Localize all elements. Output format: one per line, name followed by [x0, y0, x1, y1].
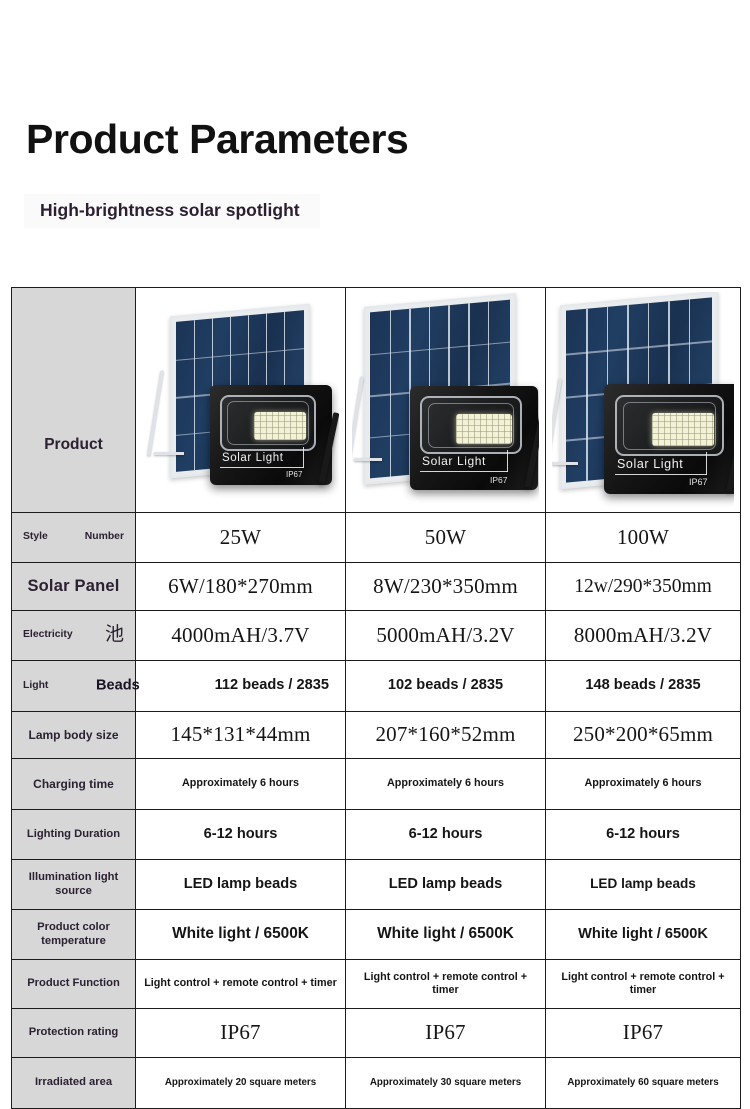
table-row-battery: Electricity 池 4000mAH/3.7V 5000mAH/3.2V …	[12, 611, 741, 661]
panel-stand-foot-icon	[154, 452, 184, 455]
cell-lamp-body-size-100w: 250*200*65mm	[546, 712, 741, 759]
cell-illumination-source-25w: LED lamp beads	[136, 860, 346, 910]
cell-charging-time-25w: Approximately 6 hours	[136, 759, 346, 810]
panel-stand-foot-icon	[354, 458, 382, 461]
row-label-solar-panel: Solar Panel	[12, 563, 136, 611]
row-label-product-text: Product	[16, 346, 131, 454]
cell-light-beads-100w: 148 beads / 2835	[546, 661, 741, 712]
cell-lighting-duration-100w: 6-12 hours	[546, 810, 741, 860]
page-subtitle: High-brightness solar spotlight	[40, 200, 300, 221]
product-image-cell-100w: Solar Light IP67	[546, 288, 741, 513]
table-row-product-function: Product Function Light control + remote …	[12, 960, 741, 1009]
cell-style-number-25w: 25W	[136, 513, 346, 563]
product-image-cell-25w: Solar Light IP67	[136, 288, 346, 513]
cell-light-beads-25w: 112 beads / 2835	[136, 661, 346, 712]
cell-protection-rating-50w: IP67	[346, 1009, 546, 1058]
row-label-protection-rating: Protection rating	[12, 1009, 136, 1058]
row-label-charging-time: Charging time	[12, 759, 136, 810]
floodlight-brand-text: Solar Light	[617, 457, 683, 472]
led-array-icon	[456, 414, 512, 444]
row-label-style-number: Style Number	[12, 513, 136, 563]
cell-lighting-duration-50w: 6-12 hours	[346, 810, 546, 860]
solar-light-illustration-small: Solar Light IP67	[142, 292, 339, 508]
led-array-icon	[652, 413, 714, 446]
cell-product-function-50w: Light control + remote control + timer	[346, 960, 546, 1009]
row-label-beads-text: Beads	[96, 677, 140, 694]
floodlight-icon: Solar Light IP67	[210, 385, 332, 485]
row-label-light-beads: Light Beads	[12, 661, 136, 712]
cell-solar-panel-100w: 12w/290*350mm	[546, 563, 741, 611]
cell-illumination-source-100w: LED lamp beads	[546, 860, 741, 910]
floodlight-ip-rating-text: IP67	[286, 470, 302, 480]
row-label-electricity-text: Electricity	[23, 629, 73, 641]
cell-irradiated-area-50w: Approximately 30 square meters	[346, 1058, 546, 1109]
table-row-illumination-source: Illumination light source LED lamp beads…	[12, 860, 741, 910]
cell-light-beads-50w: 102 beads / 2835	[346, 661, 546, 712]
cell-illumination-source-50w: LED lamp beads	[346, 860, 546, 910]
row-label-light-text: Light	[23, 680, 48, 692]
panel-stand-foot-icon	[552, 462, 578, 465]
row-label-lighting-duration: Lighting Duration	[12, 810, 136, 860]
cell-protection-rating-25w: IP67	[136, 1009, 346, 1058]
table-row-lamp-body-size: Lamp body size 145*131*44mm 207*160*52mm…	[12, 712, 741, 759]
cell-color-temperature-100w: White light / 6500K	[546, 910, 741, 960]
cell-battery-100w: 8000mAH/3.2V	[546, 611, 741, 661]
cell-battery-50w: 5000mAH/3.2V	[346, 611, 546, 661]
row-label-product: Product	[12, 288, 136, 513]
row-label-battery-cjk-text: 池	[105, 624, 124, 646]
table-row-protection-rating: Protection rating IP67 IP67 IP67	[12, 1009, 741, 1058]
panel-stand-icon	[147, 370, 163, 455]
cell-solar-panel-50w: 8W/230*350mm	[346, 563, 546, 611]
cell-style-number-50w: 50W	[346, 513, 546, 563]
row-label-illumination-source: Illumination light source	[12, 860, 136, 910]
cell-irradiated-area-100w: Approximately 60 square meters	[546, 1058, 741, 1109]
row-label-lamp-body-size: Lamp body size	[12, 712, 136, 759]
led-array-icon	[254, 412, 306, 440]
solar-light-illustration-large: Solar Light IP67	[552, 292, 734, 508]
cell-lamp-body-size-25w: 145*131*44mm	[136, 712, 346, 759]
cell-product-function-100w: Light control + remote control + timer	[546, 960, 741, 1009]
floodlight-icon: Solar Light IP67	[604, 384, 734, 494]
cell-charging-time-50w: Approximately 6 hours	[346, 759, 546, 810]
row-label-number-text: Number	[85, 531, 124, 543]
table-row-product: Product	[12, 288, 741, 513]
cell-charging-time-100w: Approximately 6 hours	[546, 759, 741, 810]
cell-color-temperature-50w: White light / 6500K	[346, 910, 546, 960]
table-row-light-beads: Light Beads 112 beads / 2835 102 beads /…	[12, 661, 741, 712]
floodlight-brand-text: Solar Light	[222, 451, 284, 465]
row-label-color-temperature: Product color temperature	[12, 910, 136, 960]
cell-lamp-body-size-50w: 207*160*52mm	[346, 712, 546, 759]
floodlight-ip-rating-text: IP67	[490, 475, 508, 485]
table-row-irradiated-area: Irradiated area Approximately 20 square …	[12, 1058, 741, 1109]
page-title: Product Parameters	[26, 116, 408, 163]
panel-stand-icon	[352, 376, 364, 461]
floodlight-icon: Solar Light IP67	[410, 386, 538, 490]
table-row-lighting-duration: Lighting Duration 6-12 hours 6-12 hours …	[12, 810, 741, 860]
cell-lighting-duration-25w: 6-12 hours	[136, 810, 346, 860]
cell-product-function-25w: Light control + remote control + timer	[136, 960, 346, 1009]
cell-protection-rating-100w: IP67	[546, 1009, 741, 1058]
cell-color-temperature-25w: White light / 6500K	[136, 910, 346, 960]
row-label-style-text: Style	[23, 531, 48, 543]
row-label-product-function: Product Function	[12, 960, 136, 1009]
floodlight-brand-text: Solar Light	[422, 454, 486, 469]
table-row-style-number: Style Number 25W 50W 100W	[12, 513, 741, 563]
floodlight-ip-rating-text: IP67	[689, 477, 708, 488]
product-image-cell-50w: Solar Light IP67	[346, 288, 546, 513]
row-label-irradiated-area: Irradiated area	[12, 1058, 136, 1109]
cell-battery-25w: 4000mAH/3.7V	[136, 611, 346, 661]
product-parameters-table: Product	[11, 287, 741, 1109]
table-row-color-temperature: Product color temperature White light / …	[12, 910, 741, 960]
cell-irradiated-area-25w: Approximately 20 square meters	[136, 1058, 346, 1109]
row-label-battery: Electricity 池	[12, 611, 136, 661]
cell-solar-panel-25w: 6W/180*270mm	[136, 563, 346, 611]
table-row-solar-panel: Solar Panel 6W/180*270mm 8W/230*350mm 12…	[12, 563, 741, 611]
solar-light-illustration-medium: Solar Light IP67	[352, 292, 539, 508]
table-row-charging-time: Charging time Approximately 6 hours Appr…	[12, 759, 741, 810]
cell-style-number-100w: 100W	[546, 513, 741, 563]
